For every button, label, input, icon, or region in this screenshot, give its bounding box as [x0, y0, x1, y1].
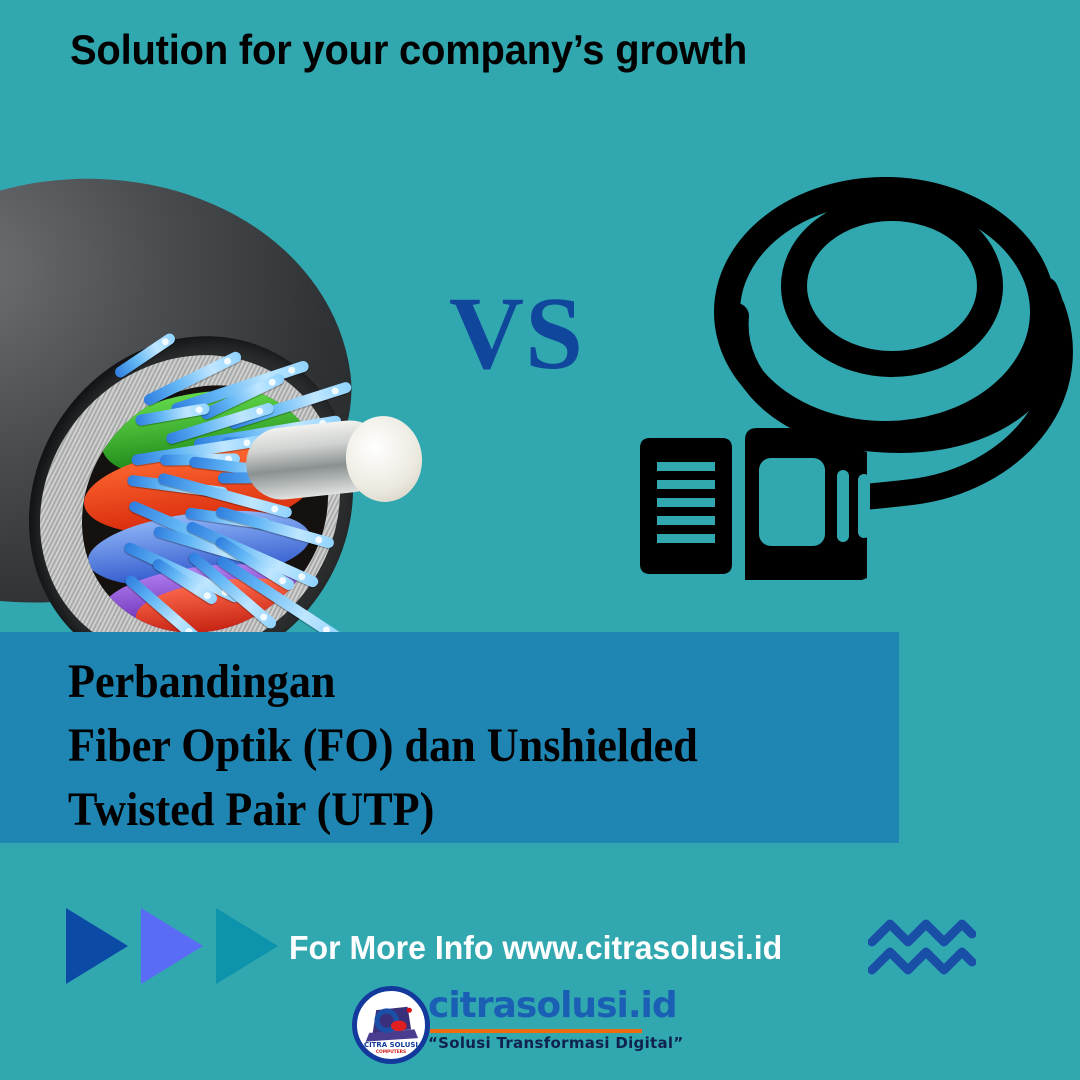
zigzag-decoration: [868, 918, 976, 978]
title-banner: Perbandingan Fiber Optik (FO) dan Unshie…: [0, 632, 899, 843]
logo-underline: [430, 1029, 642, 1033]
utp-cable-illustration: [540, 140, 1080, 580]
utp-cable-icon: [540, 140, 1080, 580]
triangle-2-icon: [141, 908, 203, 984]
rj45-connector: [640, 428, 870, 580]
logo-badge-circle: CITRA SOLUSI COMPUTERS: [352, 986, 430, 1064]
banner-title: Perbandingan Fiber Optik (FO) dan Unshie…: [68, 650, 698, 842]
logo-badge-main-text: CITRA SOLUSI: [364, 1041, 418, 1049]
poster-canvas: Solution for your company’s growth VS: [0, 0, 1080, 1080]
brand-logo[interactable]: CITRA SOLUSI COMPUTERS citrasolusi.id “S…: [352, 984, 652, 1068]
logo-wordmark: citrasolusi.id: [428, 984, 677, 1028]
page-title: Solution for your company’s growth: [70, 26, 747, 74]
fiber-optic-illustration: [0, 180, 510, 600]
triangle-1-icon: [66, 908, 128, 984]
logo-badge-sub-text: COMPUTERS: [376, 1049, 406, 1055]
logo-laptop-icon: CITRA SOLUSI COMPUTERS: [357, 991, 425, 1059]
triangle-3-icon: [216, 908, 278, 984]
cta-text: For More Info www.citrasolusi.id: [289, 929, 782, 967]
logo-tagline: “Solusi Transformasi Digital”: [428, 1034, 684, 1052]
